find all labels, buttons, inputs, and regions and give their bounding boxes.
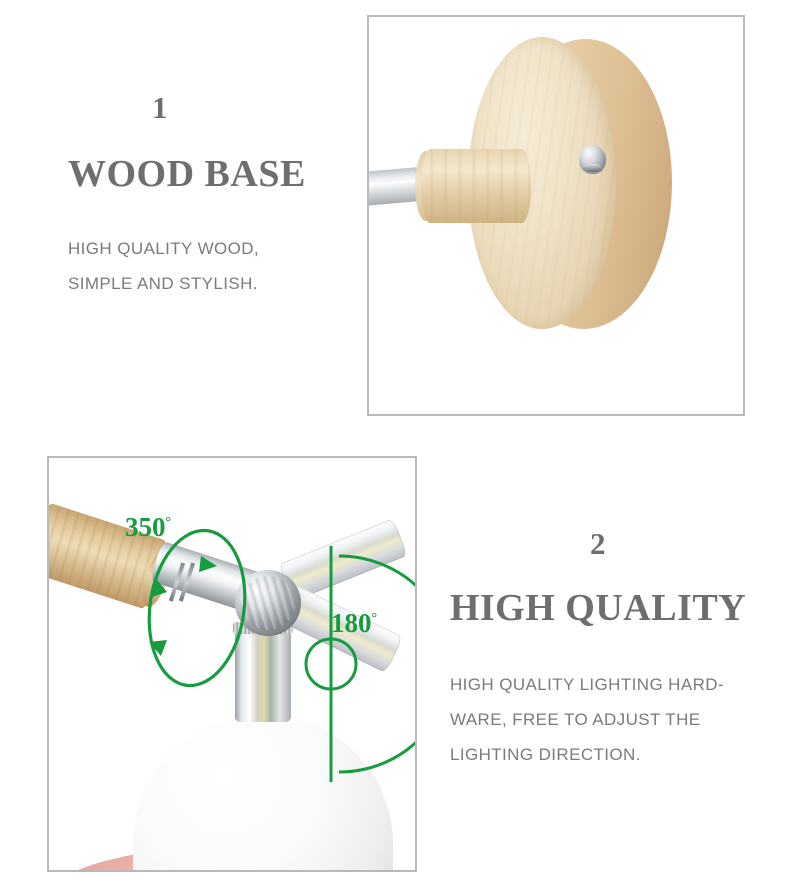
ball-joint	[235, 570, 301, 636]
step-title-high-quality: HIGH QUALITY	[448, 589, 748, 627]
wood-arm	[421, 149, 531, 223]
annotation-label-180: 180°	[331, 610, 377, 637]
set-screw	[579, 145, 606, 174]
feature-block-wood-base: 1 WOOD BASE HIGH QUALITY WOOD, SIMPLE AN…	[40, 92, 340, 301]
photo-adjustable-joint: 350° 180°	[47, 456, 417, 872]
description-line: SIMPLE AND STYLISH.	[68, 266, 340, 301]
step-description-wood-base: HIGH QUALITY WOOD, SIMPLE AND STYLISH.	[68, 231, 340, 301]
white-dome-shade	[133, 714, 393, 872]
feature-block-high-quality: 2 HIGH QUALITY HIGH QUALITY LIGHTING HAR…	[448, 528, 778, 772]
step-description-high-quality: HIGH QUALITY LIGHTING HARD- WARE, FREE T…	[450, 667, 778, 772]
description-line: HIGH QUALITY LIGHTING HARD-	[450, 667, 778, 702]
description-line: WARE, FREE TO ADJUST THE	[450, 702, 778, 737]
step-number-1: 1	[40, 92, 280, 123]
annotation-label-350: 350°	[125, 514, 171, 541]
chrome-neck	[235, 626, 291, 722]
description-line: HIGH QUALITY WOOD,	[68, 231, 340, 266]
infographic-page: 1 WOOD BASE HIGH QUALITY WOOD, SIMPLE AN…	[0, 0, 800, 878]
step-title-wood-base: WOOD BASE	[68, 155, 340, 193]
step-number-2: 2	[448, 528, 748, 559]
rotation-arrow-bottom	[149, 640, 167, 656]
photo-wood-base	[367, 15, 745, 416]
wood-base-scene	[369, 17, 743, 414]
joint-scene: 350° 180°	[49, 458, 415, 870]
description-line: LIGHTING DIRECTION.	[450, 737, 778, 772]
